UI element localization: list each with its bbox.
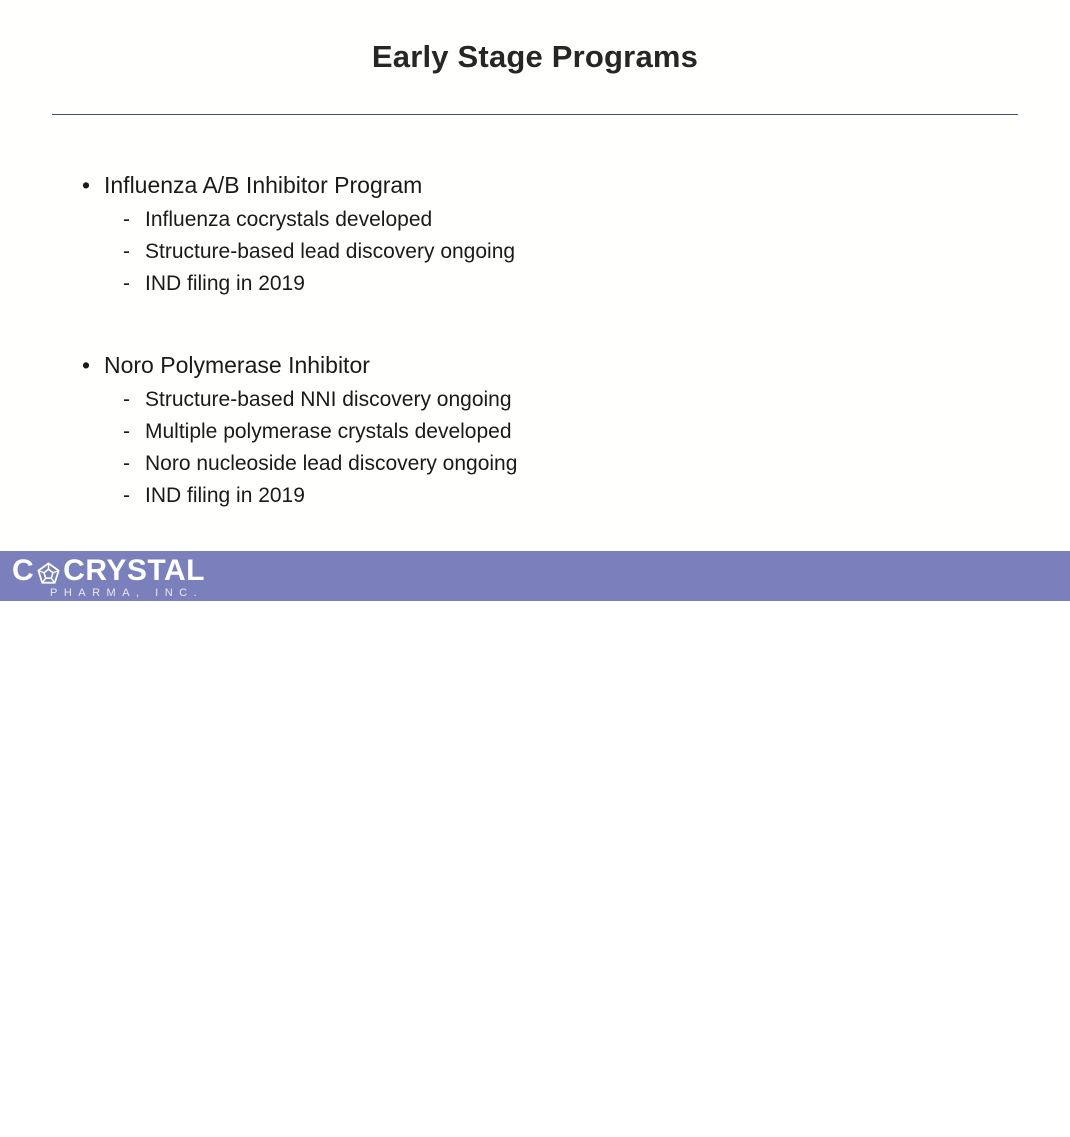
bullet-heading-label: Influenza A/B Inhibitor Program [104, 172, 422, 198]
list-item-label: Structure-based NNI discovery ongoing [145, 388, 512, 411]
slide-body: • Influenza A/B Inhibitor Program - Infl… [82, 166, 982, 512]
page-title: Early Stage Programs [0, 36, 1070, 78]
list-item-label: Influenza cocrystals developed [145, 208, 432, 231]
list-item: - IND filing in 2019 [82, 480, 982, 512]
bullet-dot-icon: • [82, 166, 90, 204]
list-item: - Noro nucleoside lead discovery ongoing [82, 448, 982, 480]
bullet-dot-icon: • [82, 346, 90, 384]
list-item: - Multiple polymerase crystals developed [82, 416, 982, 448]
dash-marker-icon: - [123, 236, 130, 268]
sub-bullet-list: - Structure-based NNI discovery ongoing … [82, 384, 982, 512]
title-divider [52, 114, 1018, 115]
logo-tagline: PHARMA, INC. [50, 586, 203, 600]
list-item-label: Noro nucleoside lead discovery ongoing [145, 452, 517, 475]
dash-marker-icon: - [123, 268, 130, 300]
logo-text-c: C [12, 556, 34, 586]
content-group: • Influenza A/B Inhibitor Program - Infl… [82, 166, 982, 300]
list-item-label: IND filing in 2019 [145, 484, 305, 507]
list-item: - Structure-based lead discovery ongoing [82, 236, 982, 268]
list-item-label: IND filing in 2019 [145, 272, 305, 295]
content-group: • Noro Polymerase Inhibitor - Structure-… [82, 346, 982, 512]
logo-text-crystal: CRYSTAL [63, 556, 205, 586]
dash-marker-icon: - [123, 448, 130, 480]
dash-marker-icon: - [123, 480, 130, 512]
list-item: - Structure-based NNI discovery ongoing [82, 384, 982, 416]
list-item-label: Multiple polymerase crystals developed [145, 420, 512, 443]
slide: Early Stage Programs • Influenza A/B Inh… [0, 0, 1070, 601]
crystal-gem-icon [35, 560, 62, 587]
dash-marker-icon: - [123, 204, 130, 236]
bullet-heading: • Noro Polymerase Inhibitor [82, 346, 982, 384]
list-item: - Influenza cocrystals developed [82, 204, 982, 236]
sub-bullet-list: - Influenza cocrystals developed - Struc… [82, 204, 982, 300]
website-url: www.cocrystalpharma.com [876, 1117, 1054, 1137]
logo-wordmark: C CRYSTAL [12, 555, 205, 587]
list-item-label: Structure-based lead discovery ongoing [145, 240, 515, 263]
bullet-heading: • Influenza A/B Inhibitor Program [82, 166, 982, 204]
list-item: - IND filing in 2019 [82, 268, 982, 300]
bullet-heading-label: Noro Polymerase Inhibitor [104, 352, 370, 378]
dash-marker-icon: - [123, 384, 130, 416]
slide-footer: C CRYSTAL [0, 551, 1070, 601]
dash-marker-icon: - [123, 416, 130, 448]
company-logo: C CRYSTAL [12, 555, 262, 601]
